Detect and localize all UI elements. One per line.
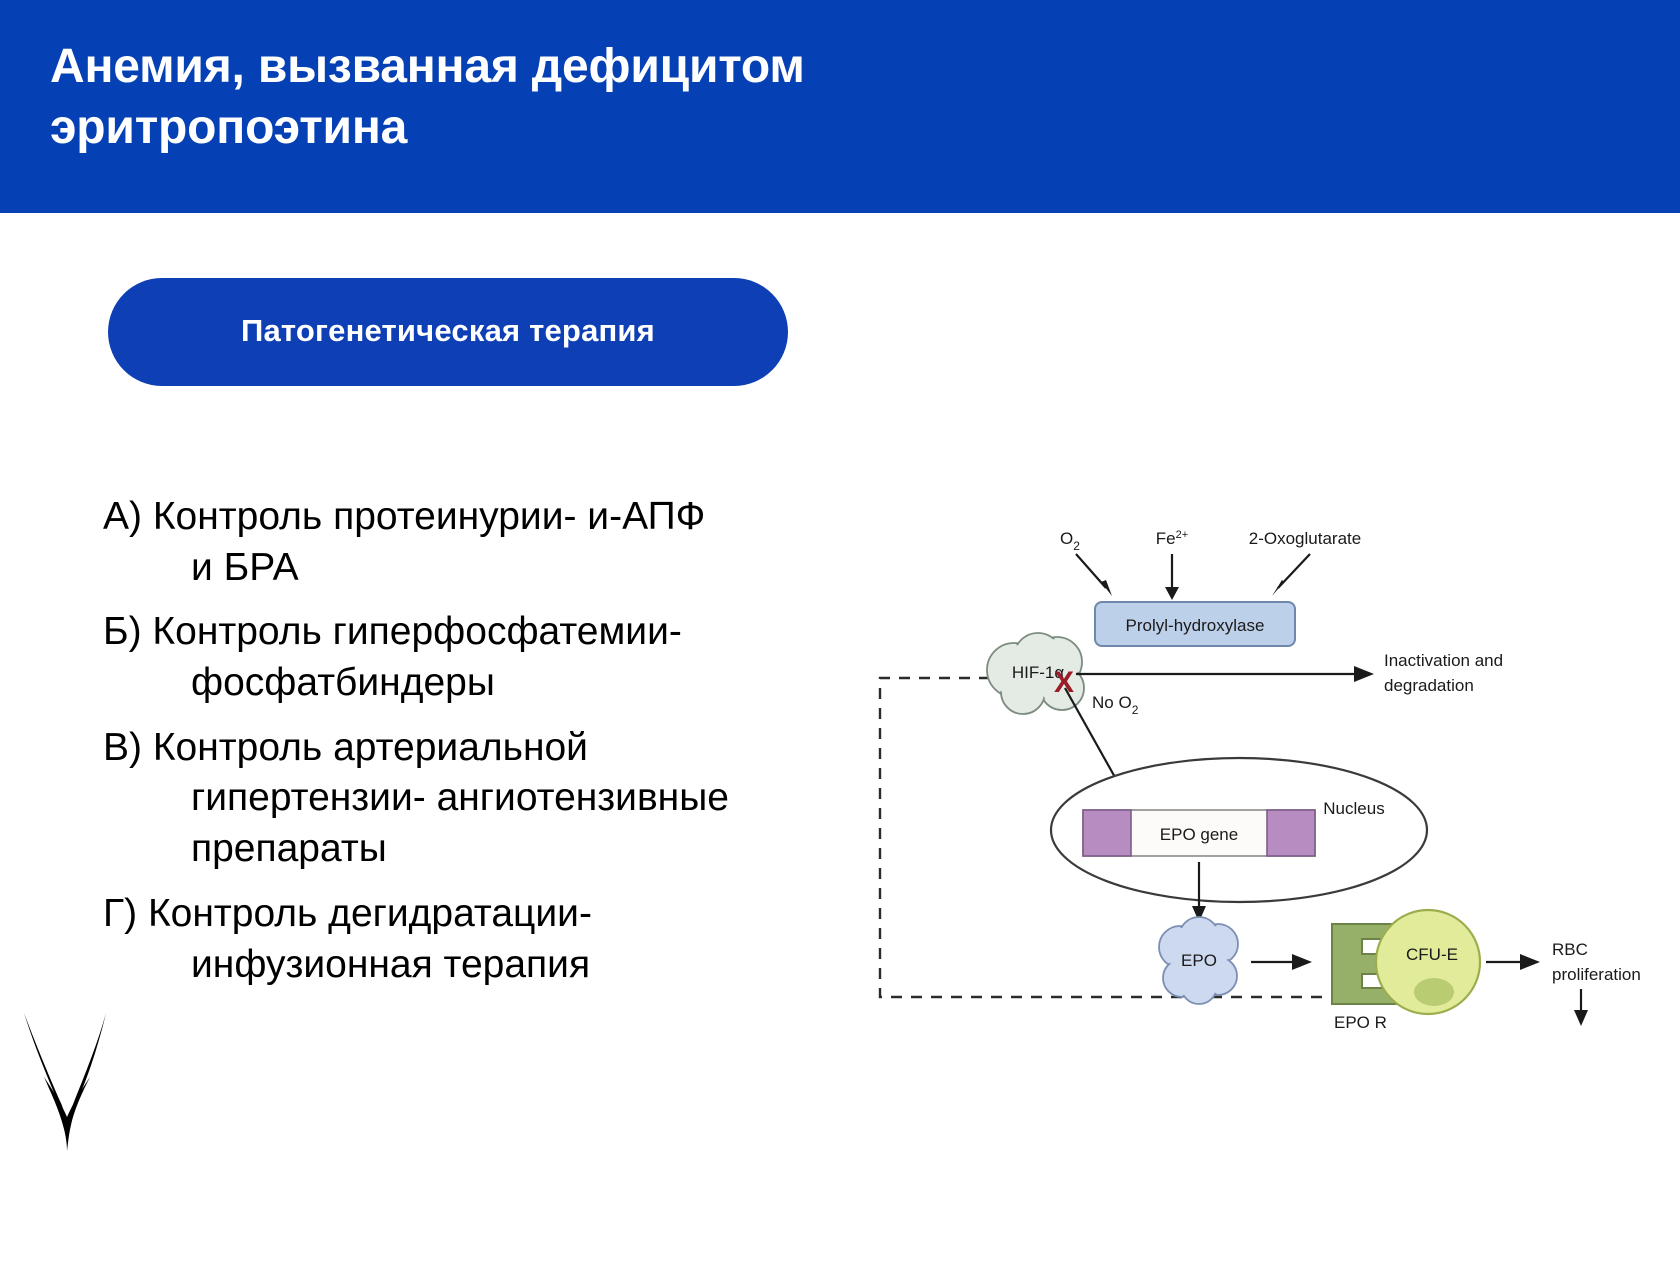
epo-gene-label: EPO gene [1160, 825, 1238, 844]
inactivation-label-line2: degradation [1384, 676, 1474, 695]
page-title: Анемия, вызванная дефицитом эритропоэтин… [50, 36, 1150, 159]
prolyl-hydroxylase-box: Prolyl-hydroxylase [1095, 602, 1295, 646]
list-item: Г) Контроль дегидратации- инфузионная те… [103, 889, 843, 990]
cfu-e-nucleus [1414, 978, 1454, 1006]
nucleus-label: Nucleus [1323, 799, 1384, 818]
rbc-label-line2: proliferation [1552, 965, 1641, 984]
epo-node: EPO [1159, 917, 1238, 1004]
section-pill-label: Патогенетическая терапия [241, 313, 655, 349]
cfu-e-label: CFU-E [1406, 945, 1458, 964]
prolyl-hydroxylase-label: Prolyl-hydroxylase [1126, 616, 1265, 635]
list-item: Б) Контроль гиперфосфатемии- фосфатбинде… [103, 607, 843, 708]
epo-gene-bar: EPO gene [1083, 810, 1315, 856]
rbc-to-o2-arrow [1574, 989, 1588, 1026]
o2-label: O2 [1060, 529, 1080, 553]
epo-r-label: EPO R [1334, 1013, 1387, 1032]
list-item: А) Контроль протеинурии- и-АПФ и БРА [103, 492, 843, 593]
gene-flank-right [1267, 810, 1315, 856]
cfu-e-cell: CFU-E [1332, 910, 1480, 1014]
epo-to-receptor-arrow [1251, 954, 1312, 970]
fe2plus-label: Fe2+ [1156, 529, 1188, 548]
block-x-icon: X [1054, 666, 1074, 699]
v-logo-icon [14, 1005, 124, 1155]
oxoglutarate-label: 2-Oxoglutarate [1249, 529, 1361, 548]
gene-flank-left [1083, 810, 1131, 856]
section-pill-button[interactable]: Патогенетическая терапия [108, 278, 788, 386]
rbc-label-line1: RBC [1552, 940, 1588, 959]
substrate-arrows [1076, 554, 1310, 600]
slide-header-banner: Анемия, вызванная дефицитом эритропоэтин… [0, 0, 1680, 213]
no-o2-label: No O2 [1092, 693, 1139, 717]
bullet-list: А) Контроль протеинурии- и-АПФ и БРА Б) … [103, 492, 843, 1004]
epo-label: EPO [1181, 951, 1217, 970]
inactivation-arrow [1076, 666, 1374, 682]
list-item: В) Контроль артериальной гипертензии- ан… [103, 723, 843, 875]
epo-pathway-diagram: O2 Fe2+ 2-Oxoglutarate Prolyl-hydroxylas… [862, 492, 1680, 1032]
inactivation-label-line1: Inactivation and [1384, 651, 1503, 670]
cfu-to-rbc-arrow [1486, 954, 1540, 970]
